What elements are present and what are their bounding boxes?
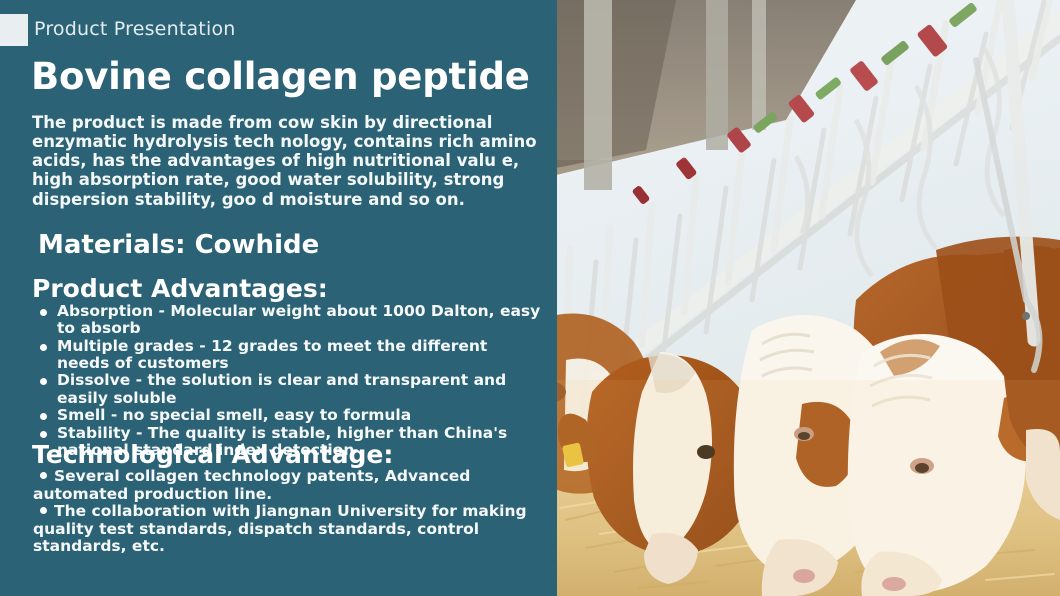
list-item: Absorption - Molecular weight about 1000…	[40, 303, 545, 338]
cattle-barn-illustration	[556, 0, 1060, 596]
list-item-label: Multiple grades - 12 grades to meet the …	[57, 337, 487, 372]
list-item-label: The collaboration with Jiangnan Universi…	[33, 502, 527, 555]
cattle-barn-photo	[556, 0, 1060, 596]
materials-heading: Materials: Cowhide	[38, 230, 319, 260]
text-panel: Product Presentation Bovine collagen pep…	[0, 0, 557, 596]
list-item: Multiple grades - 12 grades to meet the …	[40, 338, 545, 373]
list-item-label: Dissolve - the solution is clear and tra…	[57, 371, 506, 406]
bullet-dot-icon	[40, 507, 47, 514]
accent-square-decoration	[0, 14, 28, 46]
bullet-dot-icon	[40, 472, 47, 479]
list-item: The collaboration with Jiangnan Universi…	[33, 503, 545, 556]
list-item: Dissolve - the solution is clear and tra…	[40, 372, 545, 407]
list-item-label: Absorption - Molecular weight about 1000…	[57, 302, 540, 337]
bullet-dot-icon	[40, 413, 47, 420]
page-title: Bovine collagen peptide	[31, 55, 530, 98]
list-item: Several collagen technology patents, Adv…	[33, 468, 545, 503]
list-item-label: Several collagen technology patents, Adv…	[33, 467, 470, 503]
intro-paragraph: The product is made from cow skin by dir…	[32, 113, 546, 209]
bullet-dot-icon	[40, 431, 47, 438]
product-presentation-slide: Product Presentation Bovine collagen pep…	[0, 0, 1060, 596]
bullet-dot-icon	[40, 344, 47, 351]
bullet-dot-icon	[40, 309, 47, 316]
eyebrow-label: Product Presentation	[34, 18, 236, 40]
technological-advantage-heading: Technological Advantage:	[32, 440, 393, 469]
list-item-label: Smell - no special smell, easy to formul…	[57, 406, 411, 424]
product-advantages-heading: Product Advantages:	[32, 274, 328, 303]
product-advantages-list: Absorption - Molecular weight about 1000…	[40, 303, 545, 459]
list-item: Smell - no special smell, easy to formul…	[40, 407, 545, 424]
bullet-dot-icon	[40, 378, 47, 385]
technological-advantage-list: Several collagen technology patents, Adv…	[33, 468, 545, 556]
